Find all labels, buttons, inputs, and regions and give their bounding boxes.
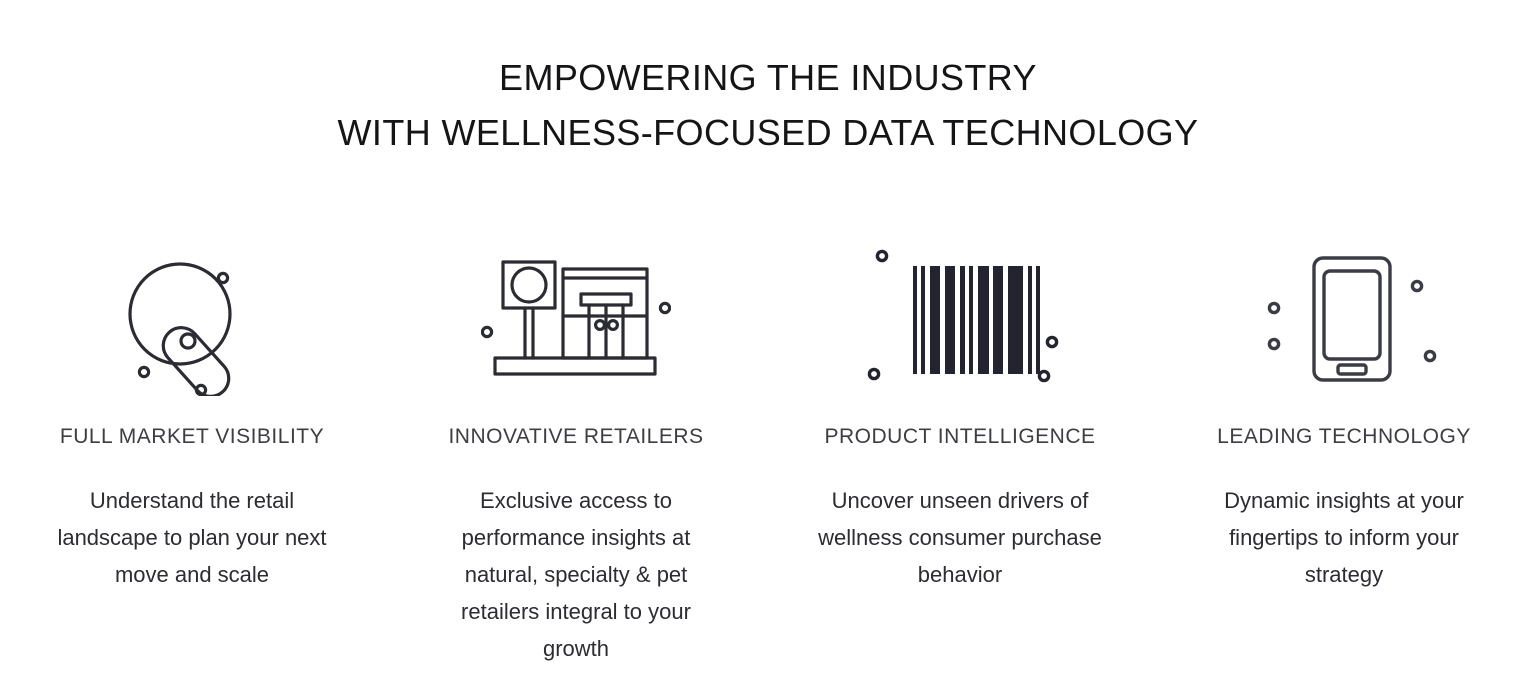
feature-columns: FULL MARKET VISIBILITY Understand the re… [0,226,1536,667]
feature-column-product-intelligence: PRODUCT INTELLIGENCE Uncover unseen driv… [768,226,1152,593]
feature-column-leading-technology: LEADING TECHNOLOGY Dynamic insights at y… [1152,226,1536,593]
storefront-icon [416,226,736,416]
page-title: EMPOWERING THE INDUSTRY WITH WELLNESS-FO… [0,24,1536,160]
feature-title: INNOVATIVE RETAILERS [448,424,703,450]
smartphone-icon [1184,226,1504,416]
feature-description: Understand the retail landscape to plan … [42,482,342,593]
feature-column-innovative-retailers: INNOVATIVE RETAILERS Exclusive access to… [384,226,768,667]
feature-title: LEADING TECHNOLOGY [1217,424,1471,450]
feature-description: Exclusive access to performance insights… [426,482,726,667]
feature-column-full-market-visibility: FULL MARKET VISIBILITY Understand the re… [0,226,384,593]
feature-description: Uncover unseen drivers of wellness consu… [810,482,1110,593]
page-title-line-1: EMPOWERING THE INDUSTRY [0,50,1536,105]
barcode-icon [800,226,1120,416]
feature-description: Dynamic insights at your fingertips to i… [1194,482,1494,593]
page-title-line-2: WITH WELLNESS-FOCUSED DATA TECHNOLOGY [0,105,1536,160]
magnifying-glass-icon [32,226,352,416]
feature-title: FULL MARKET VISIBILITY [60,424,324,450]
feature-title: PRODUCT INTELLIGENCE [825,424,1096,450]
marketing-feature-section: EMPOWERING THE INDUSTRY WITH WELLNESS-FO… [0,0,1536,682]
